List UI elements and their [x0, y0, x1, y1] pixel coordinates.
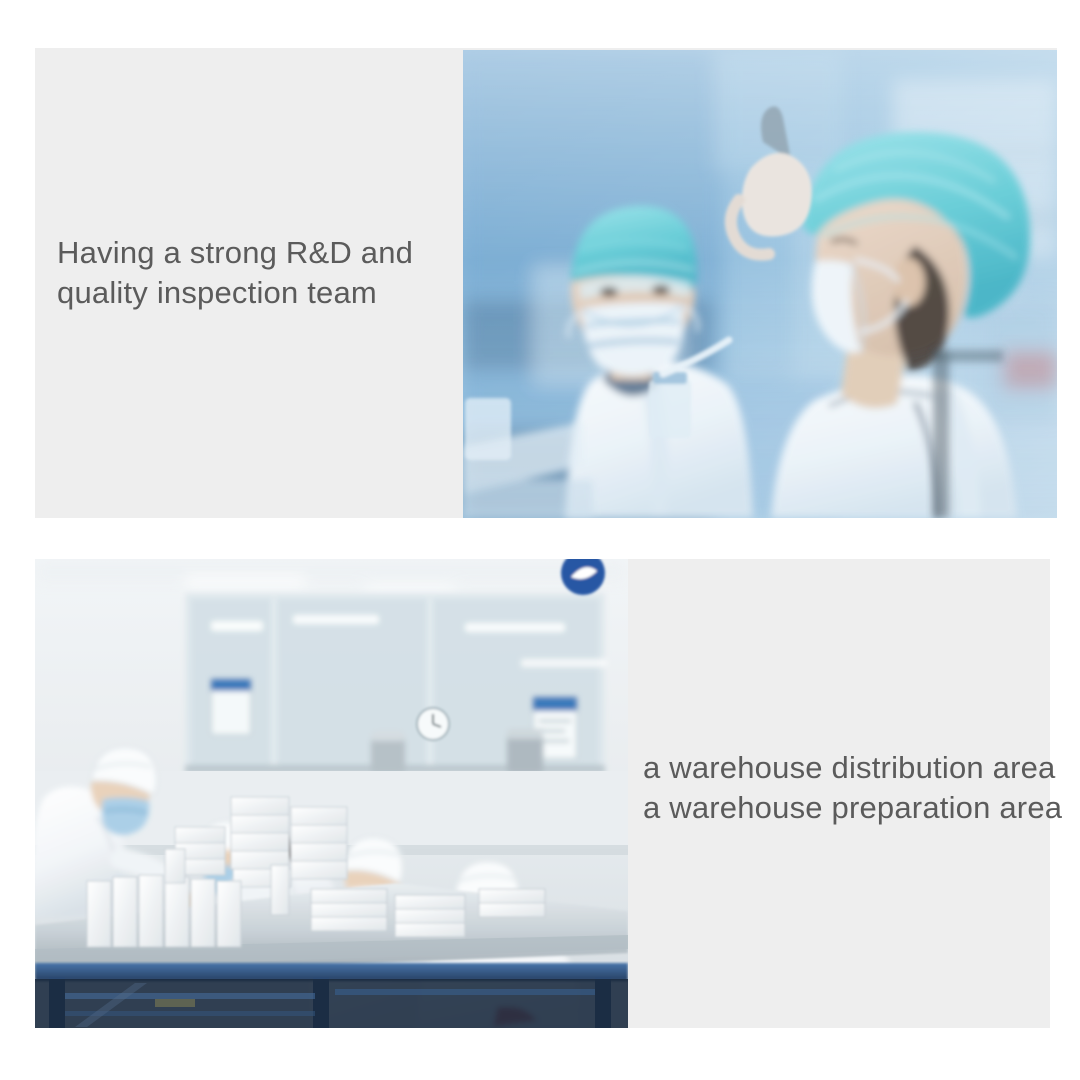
section-rd-quality: Having a strong R&D and quality inspecti…: [35, 48, 1057, 518]
warehouse-packing-illustration: [35, 559, 628, 1028]
warehouse-packing-photo: [35, 559, 628, 1028]
caption-rd-quality: Having a strong R&D and quality inspecti…: [57, 233, 457, 313]
section-warehouse: a warehouse distribution area a warehous…: [35, 559, 1050, 1028]
lab-technicians-illustration: [463, 50, 1057, 518]
lab-technicians-photo: [463, 50, 1057, 518]
caption-warehouse: a warehouse distribution area a warehous…: [643, 748, 1063, 828]
collage-page: Having a strong R&D and quality inspecti…: [0, 0, 1080, 1080]
